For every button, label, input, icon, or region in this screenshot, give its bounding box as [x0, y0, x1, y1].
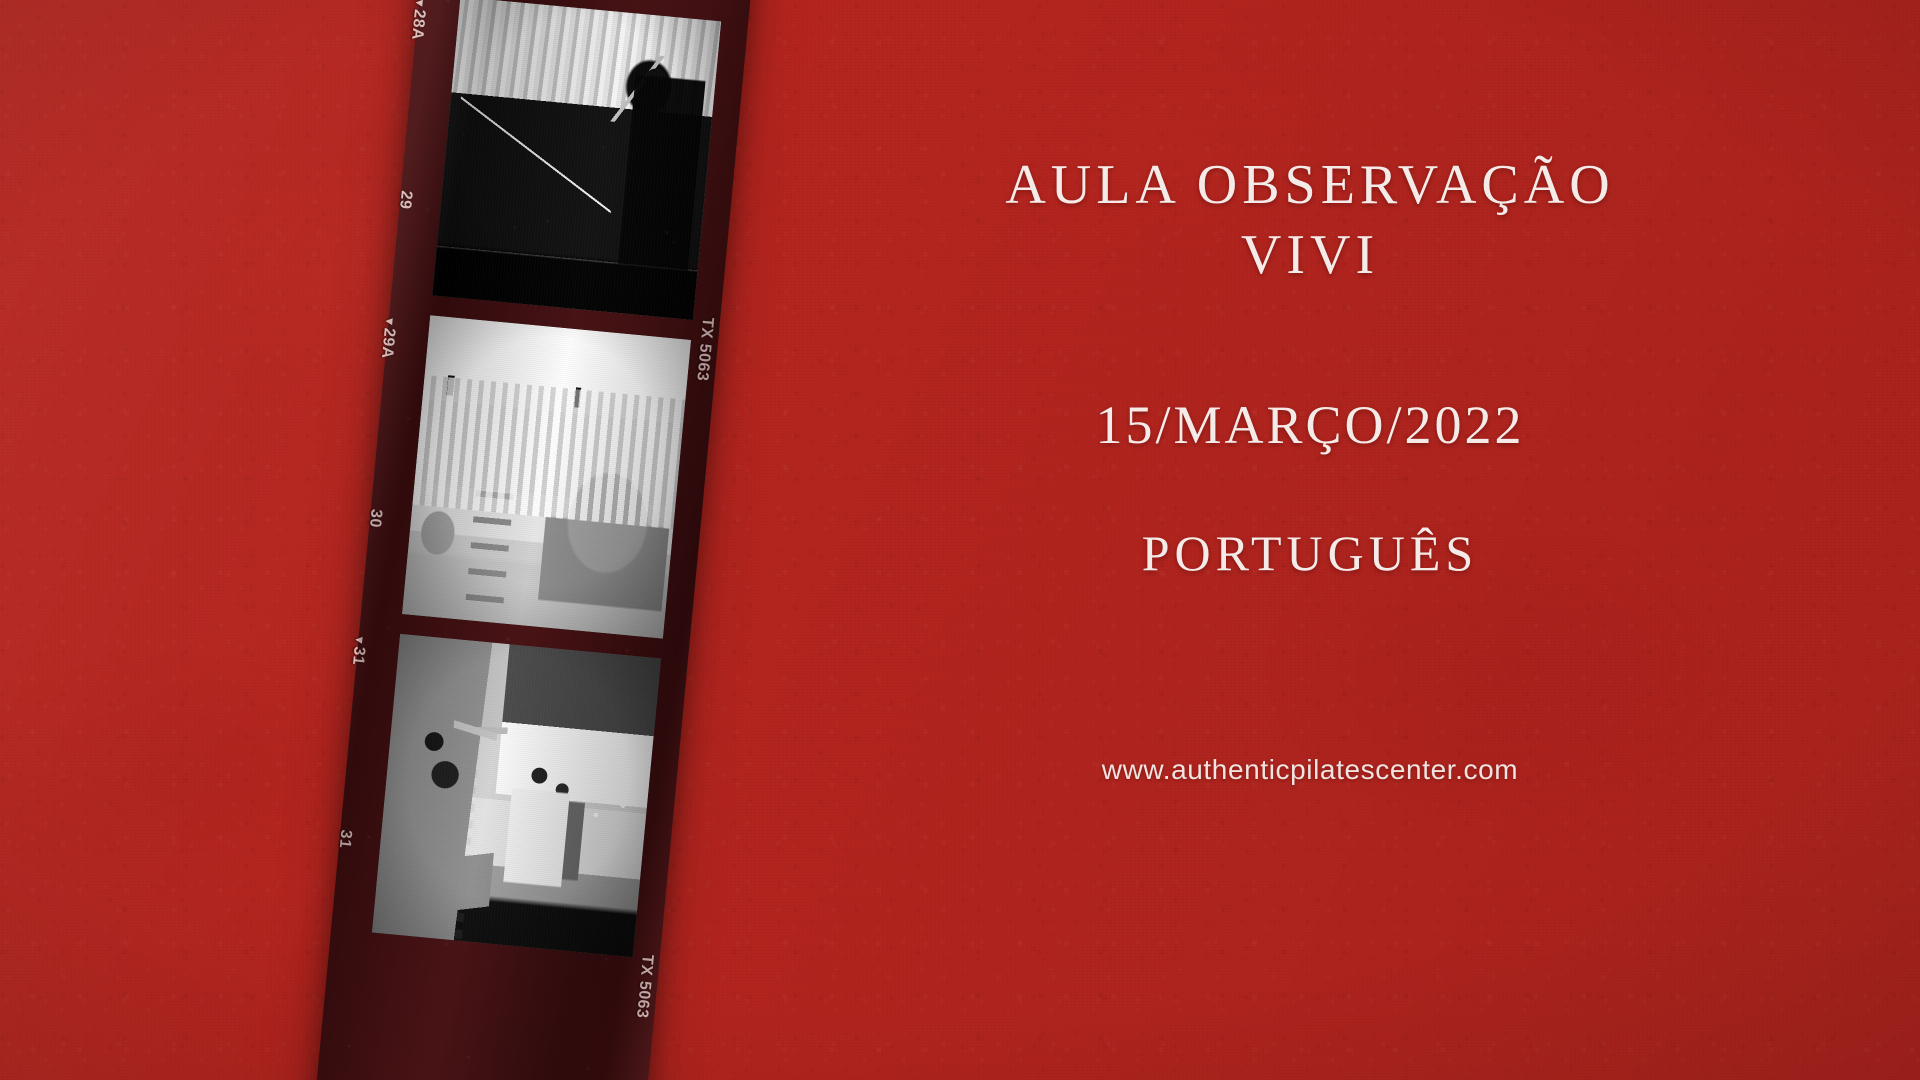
- pilates-photo-overhead-reach: [372, 634, 661, 957]
- film-edge-label: 30: [366, 508, 385, 528]
- film-frame-28a: [432, 0, 721, 320]
- film-edge-label: 29: [396, 190, 415, 210]
- film-edge-marking-28a: ▼28A: [407, 0, 429, 41]
- pilates-photo-ladder-barrel: [402, 315, 691, 638]
- film-frame-30a: [372, 634, 661, 957]
- film-edge-marking-31: 31: [335, 829, 355, 849]
- poster-canvas: ▼28A 29 ▼29A 30 ▼31 31 5063 TX 5063 TX 5…: [0, 0, 1920, 1080]
- film-edge-marking-30a: ▼31: [348, 633, 369, 666]
- film-edge-label: 31: [336, 829, 355, 849]
- event-title: AULA OBSERVAÇÃO VIVI: [900, 150, 1720, 290]
- film-stock-code-bottom: TX 5063: [632, 954, 656, 1019]
- film-edge-marking-30: 30: [365, 508, 385, 528]
- event-title-line-1: AULA OBSERVAÇÃO: [1005, 154, 1614, 216]
- film-stock-code-middle: TX 5063: [692, 317, 716, 382]
- poster-text-block: AULA OBSERVAÇÃO VIVI 15/MARÇO/2022 PORTU…: [900, 150, 1720, 786]
- website-url: www.authenticpilatescenter.com: [900, 754, 1720, 786]
- film-edge-label: 29A: [378, 327, 398, 359]
- film-edge-marking-29a: ▼29A: [377, 315, 399, 360]
- film-edge-label: 28A: [408, 9, 428, 41]
- film-frame-29a: [402, 315, 691, 638]
- film-edge-marking-29: 29: [395, 190, 415, 210]
- event-title-line-2: VIVI: [1241, 224, 1379, 286]
- film-edge-label: 31: [349, 646, 368, 666]
- event-date: 15/MARÇO/2022: [900, 394, 1720, 456]
- pilates-photo-reformer: [432, 0, 721, 320]
- event-language: PORTUGUÊS: [900, 524, 1720, 582]
